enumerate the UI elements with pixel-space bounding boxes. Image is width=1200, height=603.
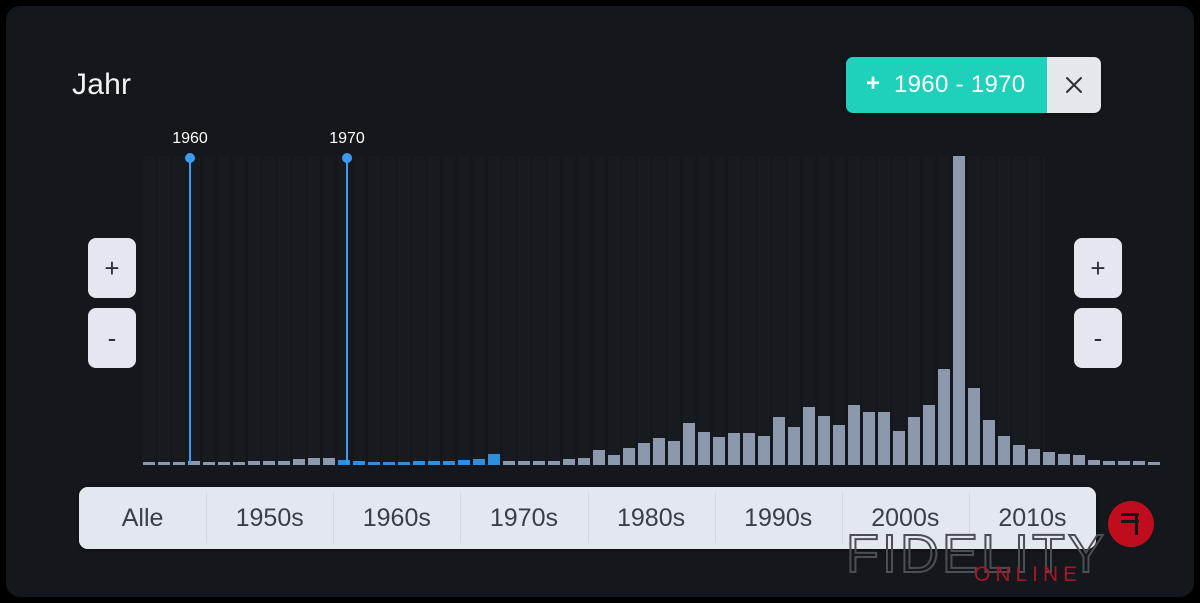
tab-1980s[interactable]: 1980s [588,487,715,549]
histogram-bar[interactable] [788,427,800,465]
histogram-bar[interactable] [488,454,500,465]
histogram-bar[interactable] [578,458,590,465]
range-handle-start[interactable]: 1960 [189,158,191,464]
selection-pill-label: 1960 - 1970 [894,71,1025,99]
histogram-bar[interactable] [398,462,410,465]
histogram-bar[interactable] [848,405,860,465]
histogram-bar[interactable] [1013,445,1025,465]
watermark-logo-icon [1108,501,1154,547]
histogram-bar[interactable] [683,423,695,465]
histogram-bar[interactable] [1043,452,1055,465]
year-histogram[interactable] [143,156,1045,465]
histogram-bar[interactable] [353,461,365,465]
range-handle-start-knob[interactable] [185,153,195,163]
page-title: Jahr [72,68,131,102]
histogram-bar[interactable] [1103,461,1115,465]
watermark-secondary-text: ONLINE [974,563,1082,587]
histogram-bar[interactable] [1088,460,1100,465]
histogram-bar[interactable] [953,156,965,465]
zoom-in-button-left[interactable]: + [88,238,136,298]
histogram-bar[interactable] [938,369,950,465]
histogram-bar[interactable] [563,459,575,465]
selection-pill-main[interactable]: + 1960 - 1970 [846,57,1047,113]
tab-alle[interactable]: Alle [79,487,206,549]
histogram-bar[interactable] [1073,455,1085,465]
histogram-bar[interactable] [998,436,1010,465]
histogram-bar[interactable] [143,462,155,465]
range-handle-start-label: 1960 [172,130,208,148]
histogram-bar[interactable] [743,433,755,465]
histogram-bar[interactable] [1028,449,1040,465]
histogram-bar[interactable] [893,431,905,465]
histogram-bar[interactable] [473,459,485,465]
year-filter-panel: Jahr + 1960 - 1970 + - + - [6,6,1194,597]
histogram-bar[interactable] [878,412,890,465]
histogram-bar[interactable] [1118,461,1130,465]
tab-2010s[interactable]: 2010s [969,487,1096,549]
histogram-bar[interactable] [608,455,620,465]
range-handle-end-label: 1970 [329,130,365,148]
tab-1970s[interactable]: 1970s [460,487,587,549]
histogram-bar[interactable] [1148,462,1160,465]
histogram-bar[interactable] [923,405,935,465]
histogram-bar[interactable] [338,460,350,465]
histogram-bar[interactable] [278,461,290,465]
histogram-bar[interactable] [668,441,680,465]
histogram-bar[interactable] [863,412,875,465]
zoom-stepper-left: + - [88,238,136,368]
histogram-bar[interactable] [323,458,335,465]
tab-1960s[interactable]: 1960s [333,487,460,549]
histogram-bar[interactable] [413,461,425,465]
histogram-bar[interactable] [698,432,710,465]
tab-2000s[interactable]: 2000s [842,487,969,549]
histogram-bar[interactable] [623,448,635,465]
histogram-bar[interactable] [503,461,515,465]
histogram-bar[interactable] [443,461,455,465]
histogram-bar[interactable] [833,425,845,465]
decade-tab-bar: Alle1950s1960s1970s1980s1990s2000s2010s [79,487,1096,549]
histogram-bar[interactable] [713,437,725,465]
histogram-bar[interactable] [173,462,185,465]
range-handle-end-knob[interactable] [342,153,352,163]
zoom-in-button-right[interactable]: + [1074,238,1122,298]
histogram-bar[interactable] [1133,461,1145,465]
range-handle-end[interactable]: 1970 [346,158,348,464]
histogram-bar[interactable] [293,459,305,465]
histogram-bar[interactable] [263,461,275,465]
histogram-bar[interactable] [428,461,440,465]
histogram-bar[interactable] [233,462,245,465]
histogram-bar[interactable] [518,461,530,465]
histogram-bar[interactable] [728,433,740,465]
histogram-bar[interactable] [203,462,215,465]
close-button[interactable] [1047,57,1101,113]
histogram-bar[interactable] [983,420,995,465]
histogram-bar[interactable] [653,438,665,465]
histogram-bar[interactable] [533,461,545,465]
histogram-bar[interactable] [818,416,830,465]
histogram-bar[interactable] [593,450,605,465]
zoom-out-button-left[interactable]: - [88,308,136,368]
tab-1950s[interactable]: 1950s [206,487,333,549]
histogram-bar[interactable] [803,407,815,465]
histogram-bar[interactable] [458,460,470,465]
selection-pill[interactable]: + 1960 - 1970 [846,57,1101,113]
tab-1990s[interactable]: 1990s [715,487,842,549]
histogram-bar[interactable] [218,462,230,465]
histogram-bar[interactable] [773,417,785,465]
histogram-bar[interactable] [368,462,380,465]
screenshot-root: Jahr + 1960 - 1970 + - + - [0,0,1200,603]
histogram-bar[interactable] [158,462,170,465]
histogram-bar[interactable] [908,417,920,465]
histogram-bar[interactable] [548,461,560,465]
plus-icon: + [866,72,880,96]
close-icon [1063,74,1085,96]
histogram-bar[interactable] [248,461,260,465]
histogram-bar[interactable] [758,436,770,465]
zoom-out-button-right[interactable]: - [1074,308,1122,368]
histogram-bars [143,156,1045,465]
histogram-bar[interactable] [638,443,650,465]
histogram-bar[interactable] [308,458,320,465]
zoom-stepper-right: + - [1074,238,1122,368]
histogram-bar[interactable] [383,462,395,465]
histogram-bar[interactable] [968,388,980,465]
histogram-bar[interactable] [1058,454,1070,465]
